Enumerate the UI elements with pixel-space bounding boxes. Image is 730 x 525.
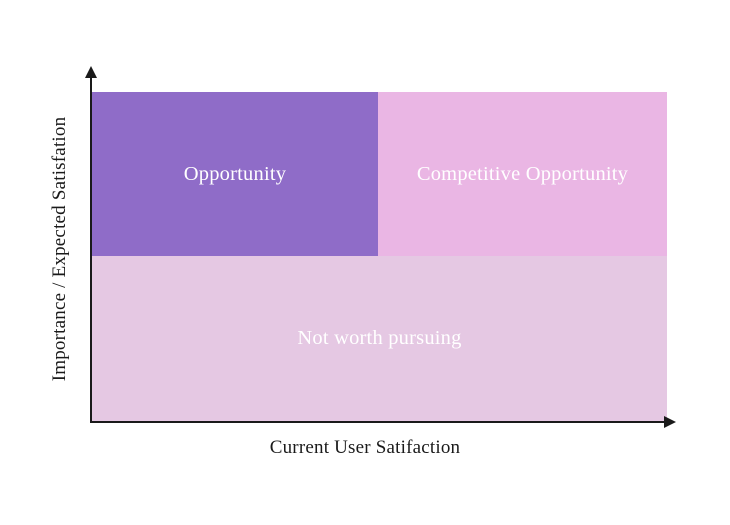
- quadrant-opportunity: Opportunity: [92, 92, 378, 256]
- plot-area: Opportunity Competitive Opportunity Not …: [92, 92, 667, 422]
- x-axis-title: Current User Satifaction: [0, 437, 730, 459]
- quadrant-opportunity-label: Opportunity: [184, 164, 286, 185]
- quadrant-competitive-opportunity: Competitive Opportunity: [378, 92, 667, 256]
- x-axis-arrow-icon: [664, 416, 676, 428]
- quadrant-competitive-opportunity-label: Competitive Opportunity: [417, 164, 628, 185]
- quadrant-not-worth-pursuing: Not worth pursuing: [92, 256, 667, 422]
- opportunity-matrix-figure: Opportunity Competitive Opportunity Not …: [0, 0, 730, 525]
- quadrant-not-worth-pursuing-label: Not worth pursuing: [297, 328, 461, 349]
- y-axis-title-container: Importance / Expected Satisfation: [48, 84, 72, 414]
- y-axis-arrow-icon: [85, 66, 97, 78]
- y-axis-line: [90, 75, 92, 423]
- y-axis-title: Importance / Expected Satisfation: [49, 117, 71, 382]
- x-axis-line: [90, 421, 668, 423]
